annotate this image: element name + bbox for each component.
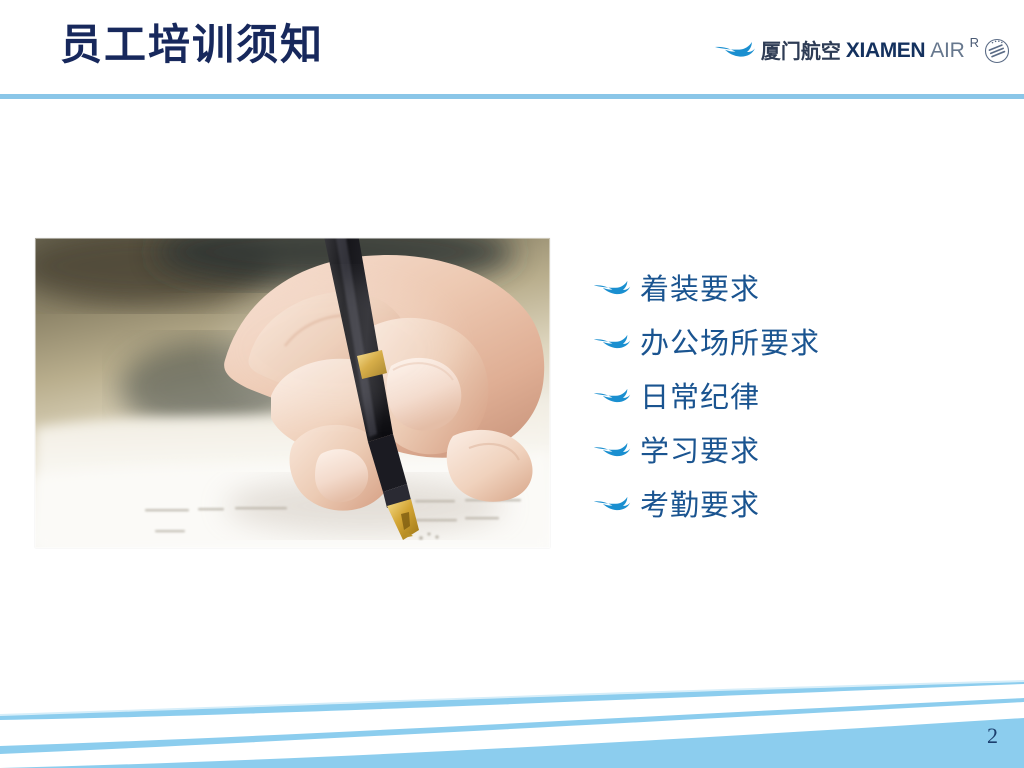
hand-writing-photo <box>35 238 550 548</box>
list-item[interactable]: 办公场所要求 <box>592 316 992 370</box>
slide-canvas: 员工培训须知 厦门航空 XIAMEN AIR R <box>0 0 1024 768</box>
header-divider <box>0 94 1024 99</box>
egret-bullet-icon <box>592 333 632 353</box>
page-number: 2 <box>987 724 998 748</box>
egret-bullet-icon <box>592 387 632 407</box>
xiamenair-logo: 厦门航空 XIAMEN AIR R <box>714 34 1010 68</box>
list-item-label: 日常纪律 <box>640 380 760 414</box>
list-item-label: 考勤要求 <box>640 488 760 522</box>
registered-mark: R <box>970 35 979 50</box>
wave-graphic <box>0 676 1024 768</box>
egret-bullet-icon <box>592 441 632 461</box>
logo-latin-light: AIR <box>930 39 964 63</box>
egret-swoosh-icon <box>714 40 756 62</box>
photo-illustration <box>35 238 550 548</box>
logo-latin-bold: XIAMEN <box>846 39 925 63</box>
egret-bullet-icon <box>592 279 632 299</box>
list-item[interactable]: 考勤要求 <box>592 478 992 532</box>
list-item[interactable]: 日常纪律 <box>592 370 992 424</box>
bullet-list: 着装要求 办公场所要求 日常纪律 学习要求 考勤要求 <box>592 262 992 532</box>
list-item-label: 着装要求 <box>640 272 760 306</box>
skyteam-seal-icon <box>984 38 1010 64</box>
egret-bullet-icon <box>592 495 632 515</box>
list-item[interactable]: 学习要求 <box>592 424 992 478</box>
page-title: 员工培训须知 <box>60 18 324 74</box>
footer-decoration: 2 <box>0 676 1024 768</box>
list-item-label: 办公场所要求 <box>640 326 820 360</box>
logo-chinese-name: 厦门航空 <box>761 40 841 62</box>
list-item[interactable]: 着装要求 <box>592 262 992 316</box>
list-item-label: 学习要求 <box>640 434 760 468</box>
slide-header: 员工培训须知 厦门航空 XIAMEN AIR R <box>0 0 1024 96</box>
